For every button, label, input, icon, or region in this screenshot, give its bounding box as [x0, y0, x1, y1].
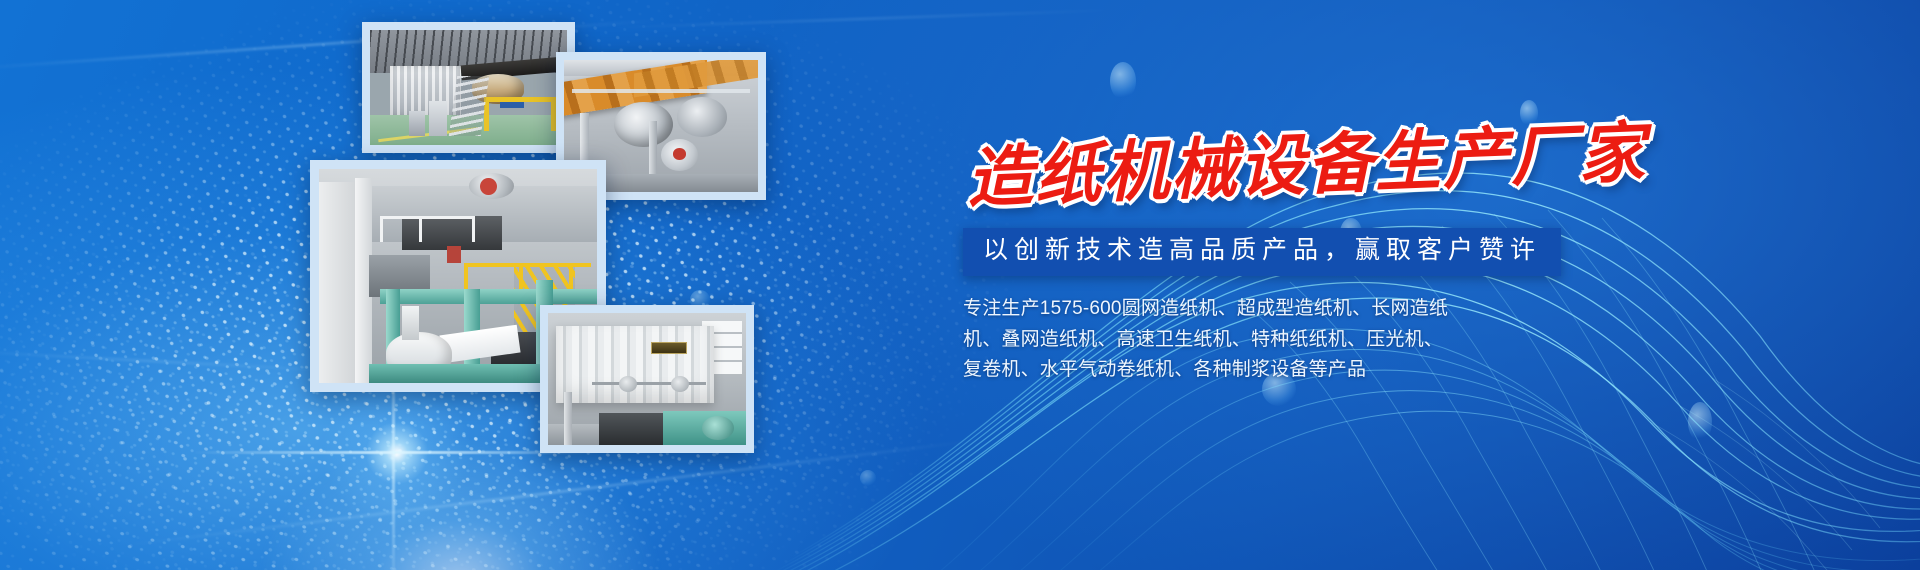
banner-subtitle: 以创新技术造高品质产品，赢取客户赞许: [983, 237, 1541, 265]
banner-headline: 造纸机械设备生产厂家: [966, 121, 1584, 214]
bokeh-bubble: [1110, 62, 1136, 100]
light-streak: [123, 440, 977, 547]
banner-description: 专注生产1575-600圆网造纸机、超成型造纸机、长网造纸机、叠网造纸机、高速卫…: [963, 294, 1461, 386]
photo-paper-machine-hall: [362, 22, 575, 153]
photo-image: [548, 313, 746, 445]
photo-dryer-hood: [540, 305, 754, 453]
promo-banner: 造纸机械设备生产厂家 以创新技术造高品质产品，赢取客户赞许 专注生产1575-6…: [0, 0, 1920, 570]
banner-copy: 造纸机械设备生产厂家 以创新技术造高品质产品，赢取客户赞许 专注生产1575-6…: [963, 145, 1583, 386]
banner-subtitle-band: 以创新技术造高品质产品，赢取客户赞许: [963, 228, 1561, 276]
bokeh-bubble: [1688, 402, 1712, 442]
light-streak: [600, 9, 1120, 29]
photo-image: [370, 30, 567, 145]
lens-flare-sparkle: [312, 368, 482, 538]
bokeh-bubble: [860, 470, 876, 486]
light-streak: [0, 349, 360, 373]
background-decoration: [0, 0, 1920, 570]
